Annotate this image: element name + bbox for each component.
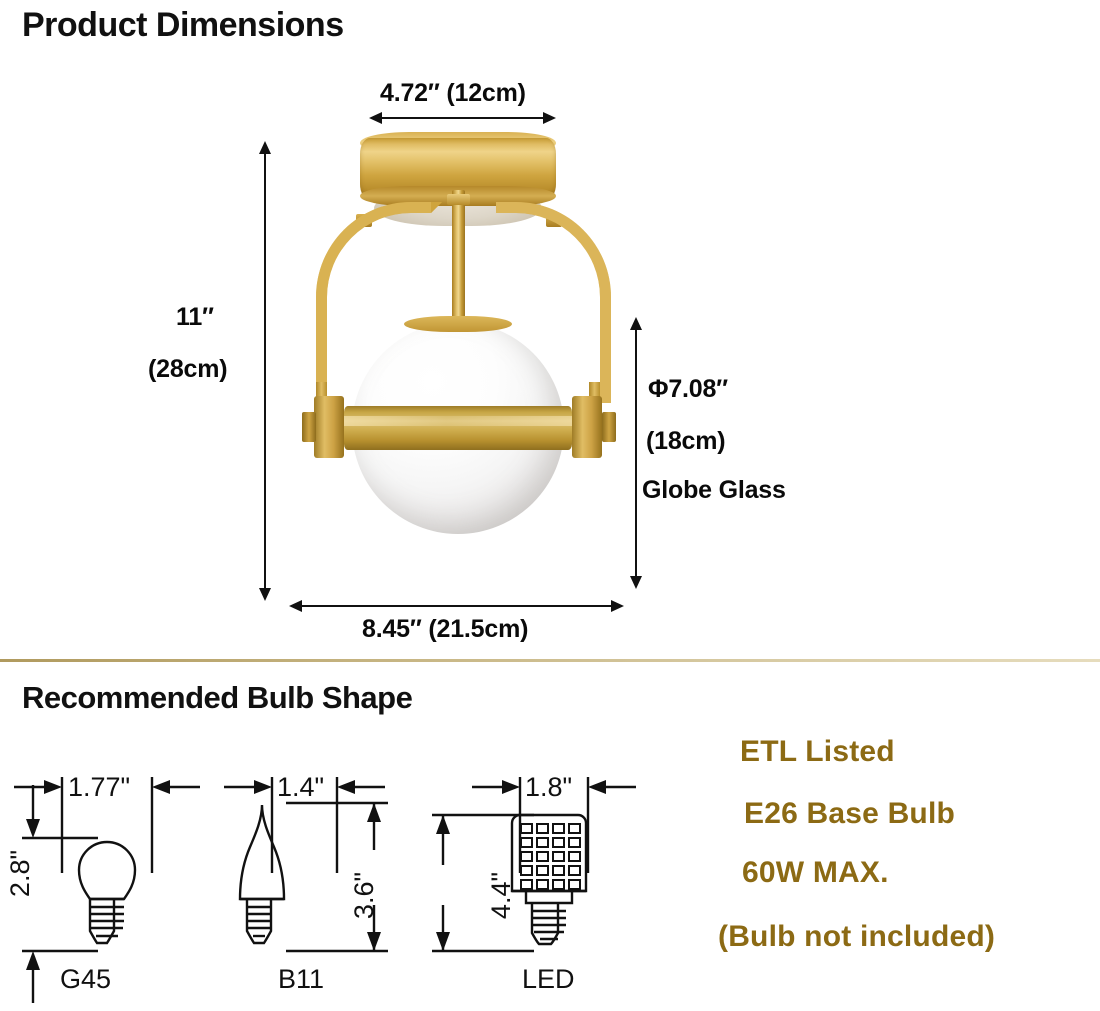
bulb-height-label-led: 4.4" [486, 872, 517, 919]
bulb-height-label-g45: 2.8" [5, 850, 36, 897]
bulb-width-label-b11: 1.4" [277, 772, 324, 803]
band-pin-left [302, 412, 316, 442]
bulb-name-g45: G45 [60, 964, 111, 995]
stem-collar-upper [447, 194, 470, 205]
bulb-width-label-g45: 1.77" [68, 772, 130, 803]
bulb-name-b11: B11 [278, 964, 324, 995]
dimension-label-top-width: 4.72″ (12cm) [380, 79, 526, 108]
spec-etl-listed: ETL Listed [740, 735, 895, 769]
dimension-label-height-inches: 11″ [176, 303, 214, 332]
dimension-label-height-cm: (28cm) [148, 355, 227, 384]
bulb-name-led: LED [522, 964, 575, 995]
globe-top-fitter [404, 316, 512, 332]
spec-base-type: E26 Base Bulb [744, 797, 955, 831]
brass-band [344, 406, 572, 450]
center-stem [452, 190, 465, 336]
product-image-semi-flush-mount-light [300, 130, 630, 600]
bulb-height-label-b11: 3.6" [349, 872, 380, 919]
spec-max-wattage: 60W MAX. [742, 856, 889, 890]
dimension-label-globe-diameter-inches: Φ7.08″ [648, 375, 728, 404]
band-bracket-right [572, 396, 602, 458]
bulb-width-label-led: 1.8" [525, 772, 572, 803]
page-title: Product Dimensions [22, 6, 344, 45]
brass-band-highlight [344, 416, 572, 426]
section-divider [0, 659, 1100, 662]
band-pin-right [602, 412, 616, 442]
bulb-section-title: Recommended Bulb Shape [22, 680, 412, 716]
spec-bulb-excluded: (Bulb not included) [718, 920, 995, 954]
dimension-label-bottom-width: 8.45″ (21.5cm) [362, 615, 528, 644]
dimension-label-globe-material: Globe Glass [642, 476, 786, 505]
dimension-label-globe-diameter-cm: (18cm) [646, 427, 725, 456]
band-bracket-left [314, 396, 344, 458]
